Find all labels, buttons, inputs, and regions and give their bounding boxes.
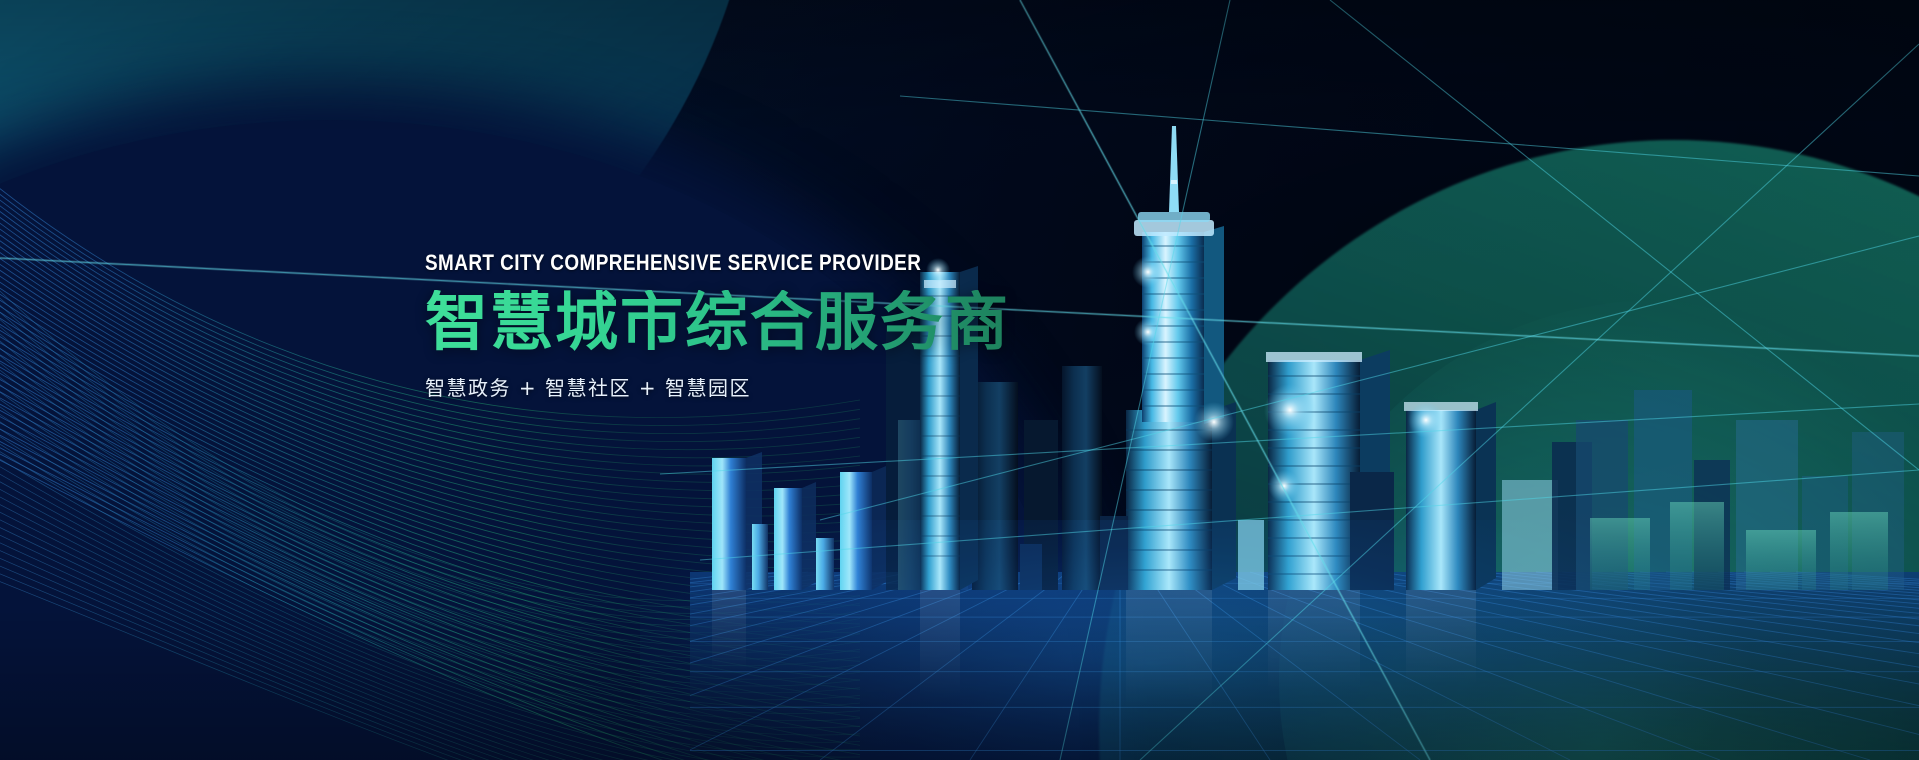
page-title: 智慧城市综合服务商 (425, 290, 1145, 356)
headline-block: SMART CITY COMPREHENSIVE SERVICE PROVIDE… (425, 250, 1145, 401)
eyebrow-text: SMART CITY COMPREHENSIVE SERVICE PROVIDE… (425, 250, 1044, 276)
hero-banner: SMART CITY COMPREHENSIVE SERVICE PROVIDE… (0, 0, 1919, 760)
subtitle-text: 智慧政务 + 智慧社区 + 智慧园区 (425, 372, 1145, 401)
